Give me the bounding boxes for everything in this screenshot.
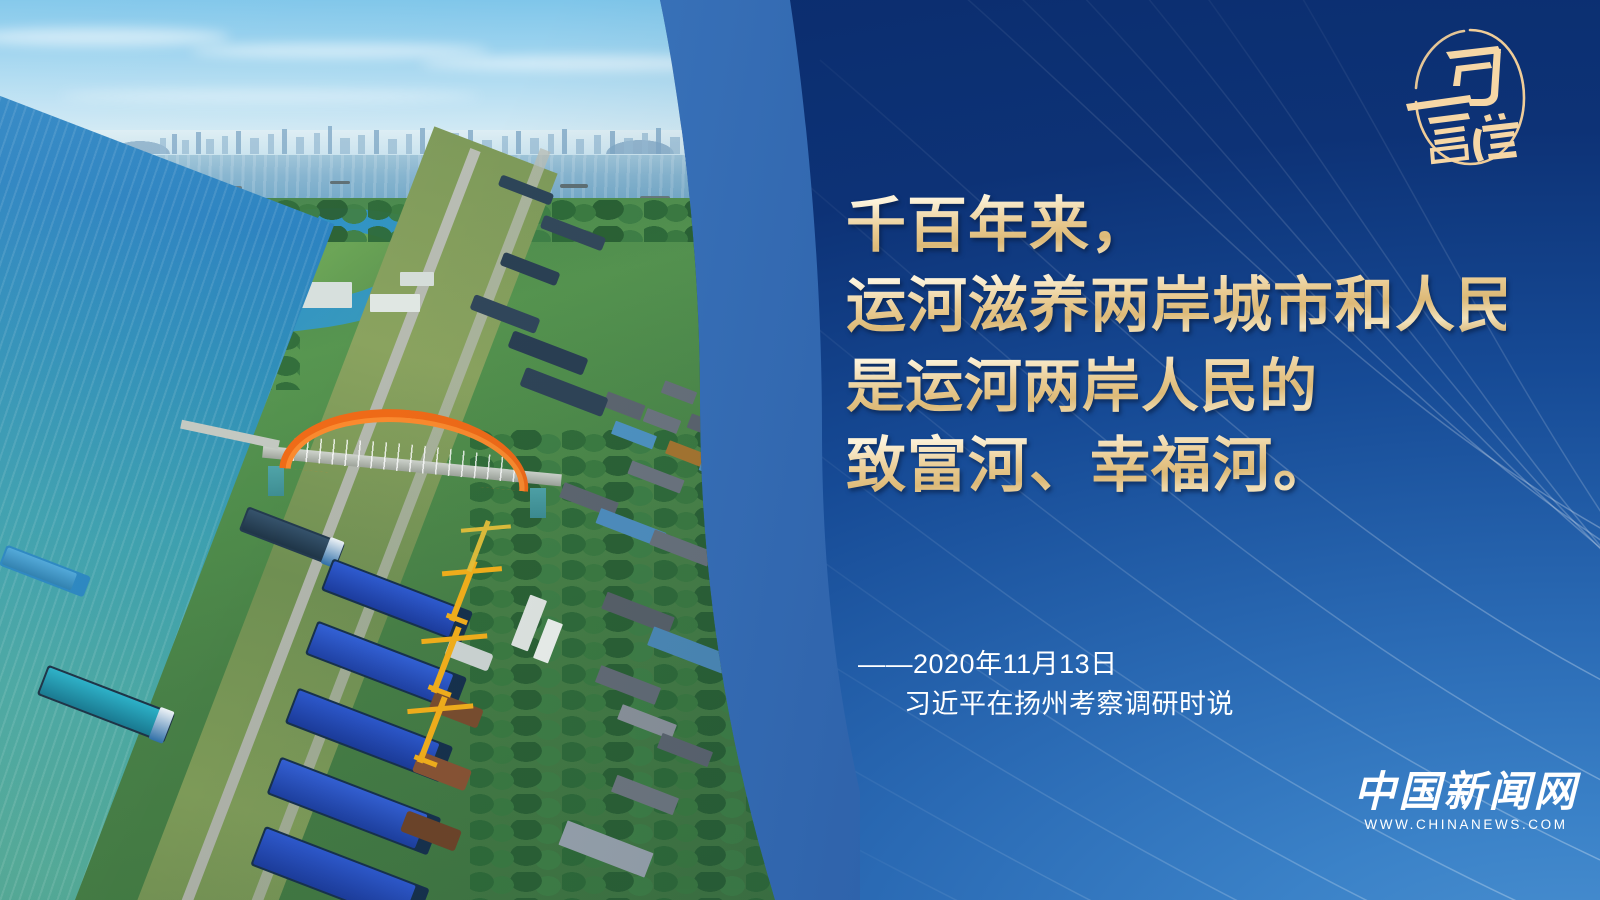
- skyline-building: [656, 128, 661, 154]
- skyline-building: [670, 137, 680, 154]
- skyline-building: [406, 134, 412, 154]
- skyline-building: [610, 131, 615, 154]
- skyline-building: [282, 129, 287, 154]
- poster-root: 千百年来， 运河滋养两岸城市和人民， 是运河两岸人民的 致富河、幸福河。 ——2…: [0, 0, 1600, 900]
- cloud: [190, 44, 490, 58]
- factory-building: [370, 294, 420, 312]
- skyline-building: [222, 136, 228, 154]
- distant-ship: [560, 184, 588, 188]
- quote-line-2: 运河滋养两岸城市和人民，: [846, 266, 1506, 346]
- skyline-building: [388, 139, 397, 154]
- bridge-pier: [530, 488, 546, 518]
- hero-photo: [0, 0, 800, 900]
- chinanews-name: 中国新闻网: [1352, 768, 1580, 816]
- quote-block: 千百年来， 运河滋养两岸城市和人民， 是运河两岸人民的 致富河、幸福河。: [846, 186, 1506, 506]
- attribution-source: 习近平在扬州考察调研时说: [904, 684, 1234, 724]
- cloud: [60, 90, 480, 102]
- quote-line-4: 致富河、幸福河。: [846, 426, 1506, 506]
- xi-yan-dao-seal-icon: [1398, 22, 1538, 174]
- skyline-building: [594, 135, 601, 154]
- quote-line-3: 是运河两岸人民的: [846, 346, 1506, 426]
- skyline-building: [206, 139, 214, 154]
- skyline-building: [314, 133, 320, 154]
- skyline-building: [160, 138, 166, 154]
- skyline-building: [502, 136, 508, 154]
- factory-building: [400, 272, 434, 286]
- skyline-building: [172, 134, 177, 154]
- attribution-date: ——2020年11月13日: [858, 644, 1234, 684]
- skyline-building: [642, 133, 648, 154]
- skyline-tower: [328, 126, 332, 154]
- distant-ship: [330, 181, 350, 184]
- quote-line-1: 千百年来，: [846, 186, 1506, 266]
- arch-bridge: [262, 404, 562, 514]
- chinanews-logo: 中国新闻网 WWW.CHINANEWS.COM: [1352, 768, 1580, 844]
- skyline-building: [236, 131, 241, 154]
- skyline-building: [182, 140, 189, 154]
- skyline-building: [340, 138, 350, 154]
- bridge-pier: [268, 466, 284, 496]
- chinanews-url: WWW.CHINANEWS.COM: [1352, 817, 1580, 832]
- skyline-building: [576, 139, 584, 154]
- skyline-building: [358, 135, 365, 154]
- skyline-building: [624, 138, 633, 154]
- skyline-building: [562, 129, 567, 154]
- attribution-block: ——2020年11月13日 习近平在扬州考察调研时说: [858, 644, 1234, 724]
- skyline-building: [196, 132, 201, 154]
- skyline-building: [516, 131, 521, 154]
- skyline-building: [268, 134, 274, 154]
- skyline-building: [296, 137, 304, 154]
- skyline-building: [250, 138, 259, 154]
- skyline-building: [374, 130, 379, 154]
